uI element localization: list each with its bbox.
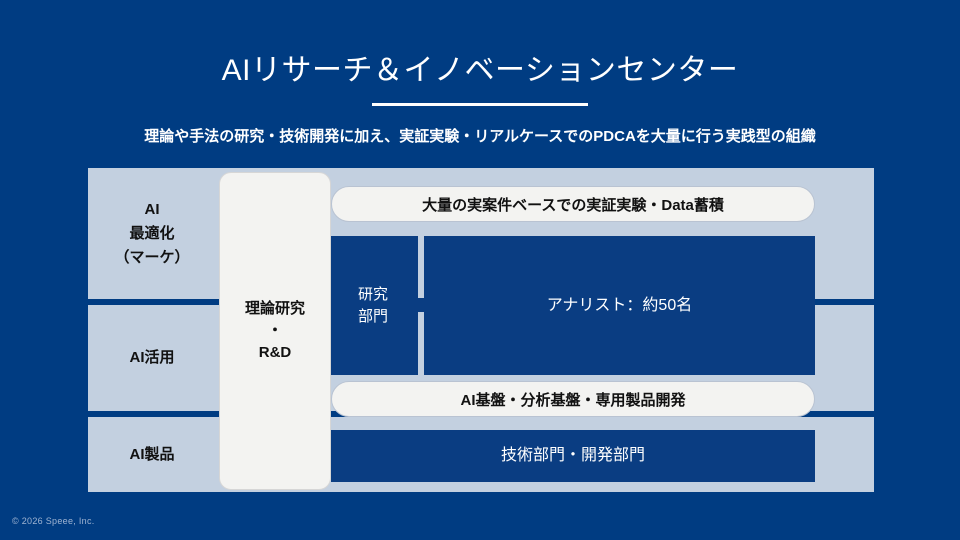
box-tech-dev-department: 技術部門・開発部門: [331, 430, 815, 482]
org-diagram: AI 最適化 （マーケ） AI活用 AI製品 理論研究 ・ R&D 大量の実案件…: [88, 168, 874, 492]
rnd-column: 理論研究 ・ R&D: [219, 172, 331, 490]
box-research-department: 研究 部門: [328, 236, 418, 375]
footer-copyright: © 2026 Speee, Inc.: [12, 516, 95, 526]
box-analyst-headcount: アナリスト：約50名: [424, 236, 815, 375]
pill-validation-data: 大量の実案件ベースでの実証実験・Data蓄積: [331, 186, 815, 222]
row-label-ai-product: AI製品: [88, 417, 216, 492]
title-divider: [372, 103, 588, 106]
page-subtitle: 理論や手法の研究・技術開発に加え、実証実験・リアルケースでのPDCAを大量に行う…: [0, 126, 960, 148]
row-label-ai-optimization: AI 最適化 （マーケ）: [88, 168, 216, 299]
pill-ai-platform: AI基盤・分析基盤・専用製品開発: [331, 381, 815, 417]
page-title: AIリサーチ＆イノベーションセンター: [0, 52, 960, 90]
rnd-column-label: 理論研究 ・ R&D: [245, 298, 305, 364]
row-label-ai-utilization: AI活用: [88, 305, 216, 411]
